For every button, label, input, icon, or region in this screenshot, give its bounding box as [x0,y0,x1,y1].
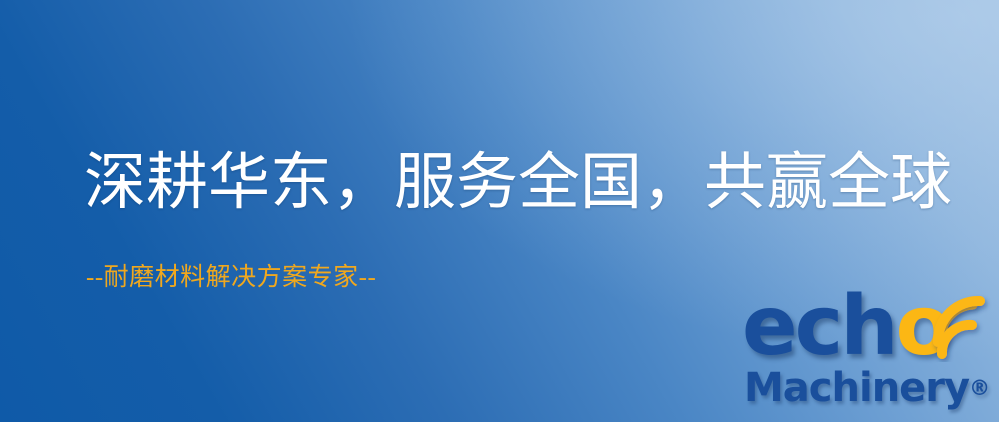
hero-banner: 深耕华东，服务全国，共赢全球 --耐磨材料解决方案专家-- echo [0,0,999,422]
company-logo[interactable]: echo Machinery® [742,292,999,422]
page-subtitle: --耐磨材料解决方案专家-- [86,265,376,290]
logo-wordmark: echo [742,286,949,368]
page-title: 深耕华东，服务全国，共赢全球 [84,152,952,214]
logo-tagline: Machinery® [744,368,990,408]
signal-waves-icon [928,290,999,362]
logo-wordmark-dark: ech [742,279,896,374]
registered-trademark-icon: ® [969,376,990,400]
logo-tagline-text: Machinery [744,365,969,411]
